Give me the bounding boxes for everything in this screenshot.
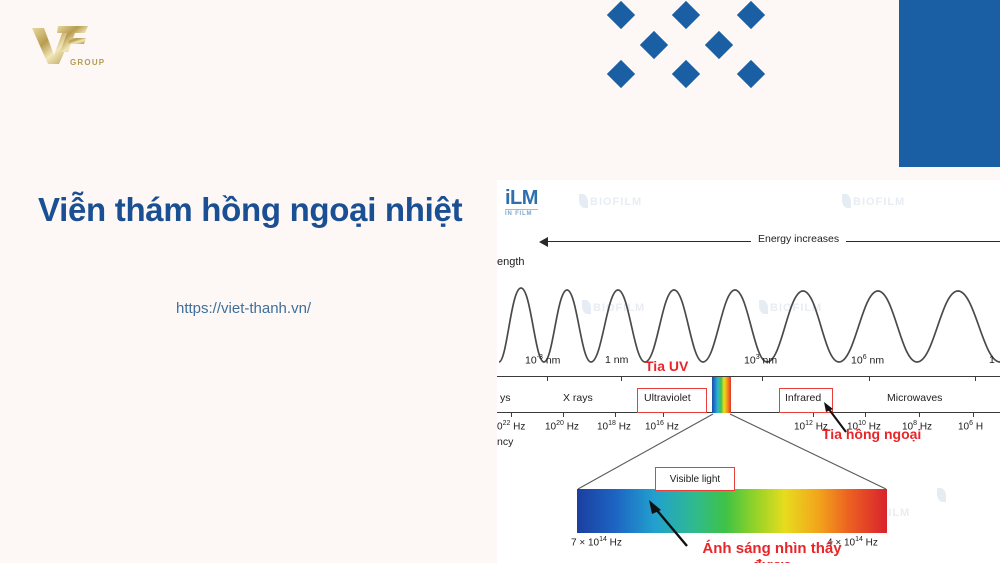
decor-diamond — [607, 1, 635, 29]
page-title: Viễn thám hồng ngoại nhiệt — [38, 190, 488, 230]
edge-unit: Hz — [866, 537, 878, 548]
ilm-logo-main: iLM — [505, 188, 538, 208]
decor-diamond — [737, 60, 765, 88]
band-label-infrared: Infrared — [785, 392, 821, 404]
band-label-ultraviolet: Ultraviolet — [644, 392, 691, 404]
tick-base: 1 — [605, 354, 611, 366]
tick-unit: nm — [763, 355, 778, 367]
visible-annotation-arrow-icon — [645, 498, 691, 548]
site-url[interactable]: https://viet-thanh.vn/ — [176, 300, 311, 317]
decor-diamond — [672, 1, 700, 29]
visible-light-callout-box: Visible light — [655, 467, 735, 491]
energy-increases-arrow: Energy increases — [497, 233, 1000, 251]
edge-exponent: 14 — [855, 536, 863, 543]
tick-base: 10 — [744, 355, 756, 367]
decor-diamond-grid — [600, 0, 770, 95]
annotation-tia-hong-ngoai: Tia hồng ngoại — [822, 426, 921, 442]
decor-diamond — [737, 1, 765, 29]
wavelength-tick-label: 103 nm — [744, 354, 777, 367]
watermark-text: BIOFILM — [590, 196, 642, 208]
tick-exponent: 3 — [756, 354, 760, 361]
band-label-microwaves: Microwaves — [887, 392, 942, 404]
watermark-leaf-icon — [579, 194, 588, 208]
decor-diamond — [607, 60, 635, 88]
energy-arrow-label: Energy increases — [751, 233, 846, 245]
watermark-leaf-icon — [842, 194, 851, 208]
decor-blue-block — [899, 0, 1000, 167]
tick-base: 1 — [989, 354, 995, 366]
wavelength-tick-label: 1 — [989, 354, 995, 366]
tick-base: 10 — [525, 355, 537, 367]
watermark-text: BIOFILM — [853, 196, 905, 208]
tick-base: 10 — [851, 355, 863, 367]
wavelength-tick-label: 1 nm — [605, 354, 628, 366]
annotation-anh-sang-nhin-thay-duoc: Ánh sáng nhìn thấy được — [702, 540, 842, 563]
wavelength-axis-line — [497, 376, 1000, 377]
decor-diamond — [705, 31, 733, 59]
tick-unit: nm — [546, 355, 561, 367]
annotation-tia-uv: Tia UV — [645, 358, 688, 374]
edge-exponent: 14 — [599, 536, 607, 543]
axis-tick — [762, 376, 763, 381]
arrow-left-icon — [539, 237, 548, 247]
tick-exponent: -3 — [537, 354, 543, 361]
wavelength-axis-label: ength — [497, 256, 525, 268]
axis-tick — [975, 376, 976, 381]
band-label-gamma: ys — [500, 392, 511, 404]
axis-tick — [547, 376, 548, 381]
ilm-logo: iLM IN FILM — [505, 188, 538, 217]
edge-unit: Hz — [610, 537, 622, 548]
visible-edge-label-left: 7 × 1014 Hz — [571, 536, 622, 548]
spectrum-figure-panel: BIOFILM BIOFILM BIOFILM BIOFILM BIOFILM … — [497, 180, 1000, 563]
wavelength-tick-label: 106 nm — [851, 354, 884, 367]
ilm-logo-sub: IN FILM — [505, 209, 538, 217]
edge-base: 7 × 10 — [571, 537, 599, 548]
brand-logo[interactable]: GROUP — [28, 22, 110, 78]
visible-spectrum-bar — [577, 489, 887, 533]
tick-unit: nm — [870, 355, 885, 367]
tick-exponent: 6 — [863, 354, 867, 361]
band-label-xrays: X rays — [563, 392, 593, 404]
axis-tick — [869, 376, 870, 381]
brand-logo-sub: GROUP — [70, 58, 105, 67]
wavelength-tick-label: 10-3 nm — [525, 354, 560, 367]
visible-light-strip — [712, 377, 731, 413]
decor-diamond — [672, 60, 700, 88]
axis-tick — [621, 376, 622, 381]
tick-unit: nm — [614, 354, 629, 366]
visible-light-label: Visible light — [656, 468, 734, 490]
decor-diamond — [640, 31, 668, 59]
